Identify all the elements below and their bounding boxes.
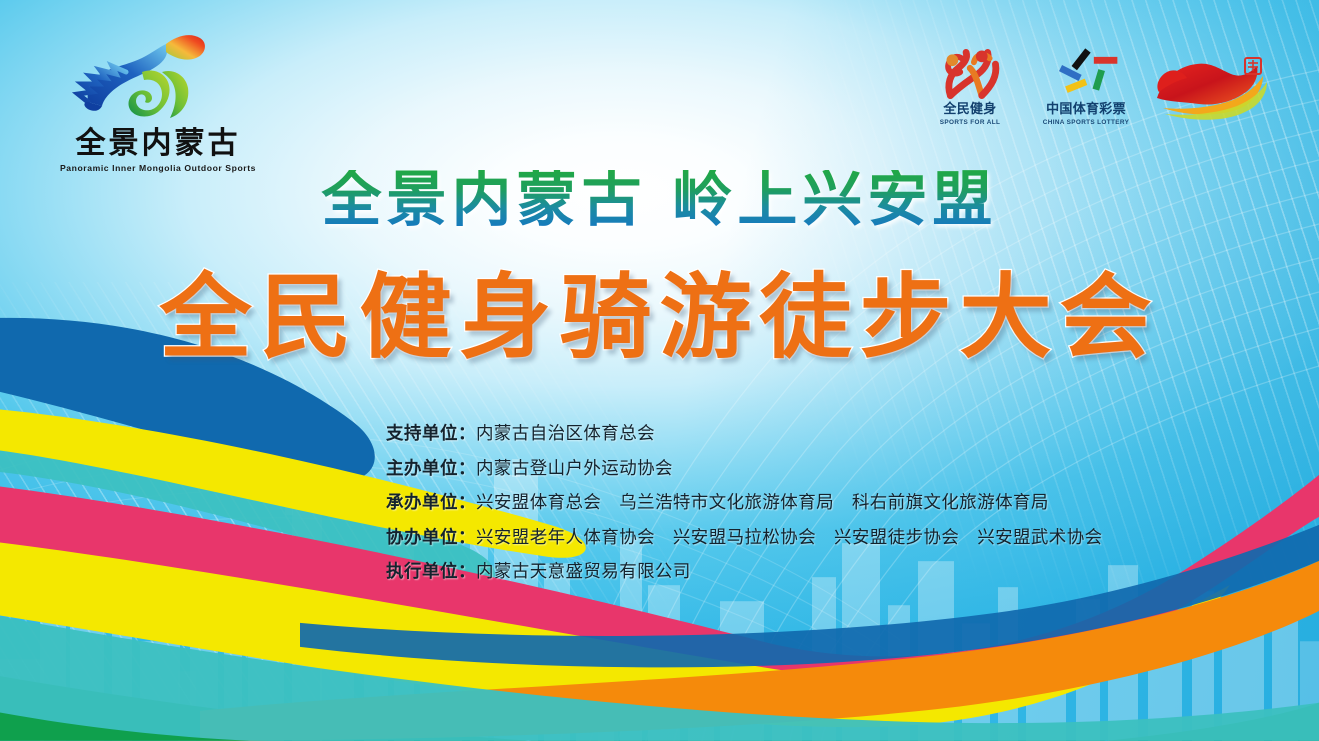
partner-name-en: CHINA SPORTS LOTTERY (1037, 119, 1135, 126)
organization-row: 承办单位：兴安盟体育总会 乌兰浩特市文化旅游体育局 科右前旗文化旅游体育局 (386, 495, 1246, 513)
china-sports-lottery-icon (1037, 44, 1135, 102)
poster-main-title: 全民健身骑游徒步大会 (0, 268, 1319, 367)
organization-row: 主办单位：内蒙古登山户外运动协会 (386, 461, 1246, 479)
partner-name-cn: 中国体育彩票 (1037, 103, 1135, 117)
organization-value: 兴安盟老年人体育协会 兴安盟马拉松协会 兴安盟徒步协会 兴安盟武术协会 (476, 528, 1103, 548)
red-horse-emblem-icon (1153, 52, 1271, 126)
organization-value: 兴安盟体育总会 乌兰浩特市文化旅游体育局 科右前旗文化旅游体育局 (476, 493, 1049, 513)
organization-label: 执行单位： (386, 562, 476, 582)
organization-value: 内蒙古登山户外运动协会 (476, 459, 673, 479)
partner-red-horse-emblem (1153, 52, 1271, 126)
sports-for-all-icon (921, 44, 1019, 102)
panoramic-inner-mongolia-logo: 全景内蒙古 Panoramic Inner Mongolia Outdoor S… (58, 28, 258, 176)
logo-name-cn: 全景内蒙古 (58, 129, 258, 160)
organization-label: 支持单位： (386, 424, 476, 444)
organization-label: 承办单位： (386, 493, 476, 513)
organization-row: 支持单位：内蒙古自治区体育总会 (386, 426, 1246, 444)
partner-sports-for-all: 全民健身 SPORTS FOR ALL (921, 44, 1019, 126)
poster-headline: 全景内蒙古 岭上兴安盟 (0, 170, 1319, 230)
organization-label: 协办单位： (386, 528, 476, 548)
organization-value: 内蒙古天意盛贸易有限公司 (476, 562, 691, 582)
partner-china-sports-lottery: 中国体育彩票 CHINA SPORTS LOTTERY (1037, 44, 1135, 126)
partner-name-cn: 全民健身 (921, 103, 1019, 117)
organization-label: 主办单位： (386, 459, 476, 479)
partner-name-en: SPORTS FOR ALL (921, 119, 1019, 126)
organization-row: 协办单位：兴安盟老年人体育协会 兴安盟马拉松协会 兴安盟徒步协会 兴安盟武术协会 (386, 530, 1246, 548)
event-poster: 全景内蒙古 Panoramic Inner Mongolia Outdoor S… (0, 0, 1319, 741)
panoramic-inner-mongolia-logo-icon (58, 28, 258, 128)
organization-list: 支持单位：内蒙古自治区体育总会 主办单位：内蒙古登山户外运动协会 承办单位：兴安… (386, 426, 1246, 599)
partner-logos: 全民健身 SPORTS FOR ALL 中国体育彩票 CHINA SPORTS … (921, 44, 1271, 126)
organization-row: 执行单位：内蒙古天意盛贸易有限公司 (386, 564, 1246, 582)
organization-value: 内蒙古自治区体育总会 (476, 424, 655, 444)
